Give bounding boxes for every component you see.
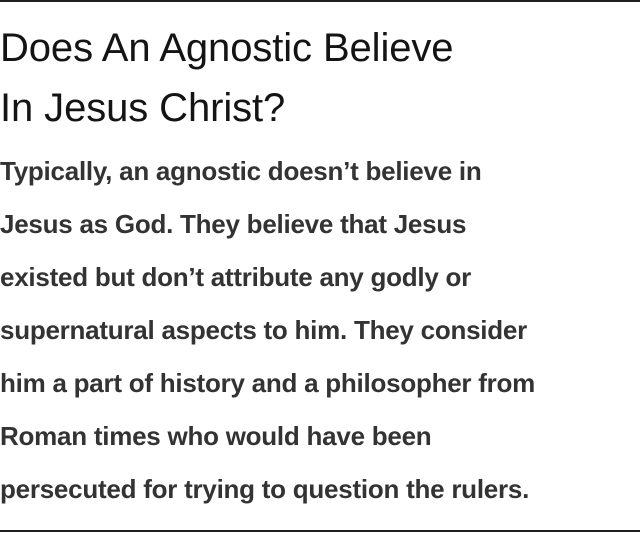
body-line: persecuted for trying to question the ru… bbox=[0, 463, 585, 516]
page-title: Does An Agnostic Believe In Jesus Christ… bbox=[0, 18, 580, 138]
heading-line: In Jesus Christ? bbox=[0, 86, 285, 130]
heading-line: Does An Agnostic Believe bbox=[0, 26, 453, 70]
top-divider-rule bbox=[0, 0, 640, 2]
bottom-divider-rule bbox=[0, 530, 640, 532]
article-screenshot: Does An Agnostic Believe In Jesus Christ… bbox=[0, 0, 640, 533]
article-body-block: Typically, an agnostic doesn’t believe i… bbox=[0, 145, 585, 516]
body-line: Typically, an agnostic doesn’t believe i… bbox=[0, 145, 585, 198]
body-line: Jesus as God. They believe that Jesus bbox=[0, 198, 585, 251]
body-line: Roman times who would have been bbox=[0, 410, 585, 463]
article-heading-block: Does An Agnostic Believe In Jesus Christ… bbox=[0, 18, 580, 138]
body-line: existed but don’t attribute any godly or bbox=[0, 251, 585, 304]
body-line: him a part of history and a philosopher … bbox=[0, 357, 585, 410]
article-body-text: Typically, an agnostic doesn’t believe i… bbox=[0, 145, 585, 516]
body-line: supernatural aspects to him. They consid… bbox=[0, 304, 585, 357]
